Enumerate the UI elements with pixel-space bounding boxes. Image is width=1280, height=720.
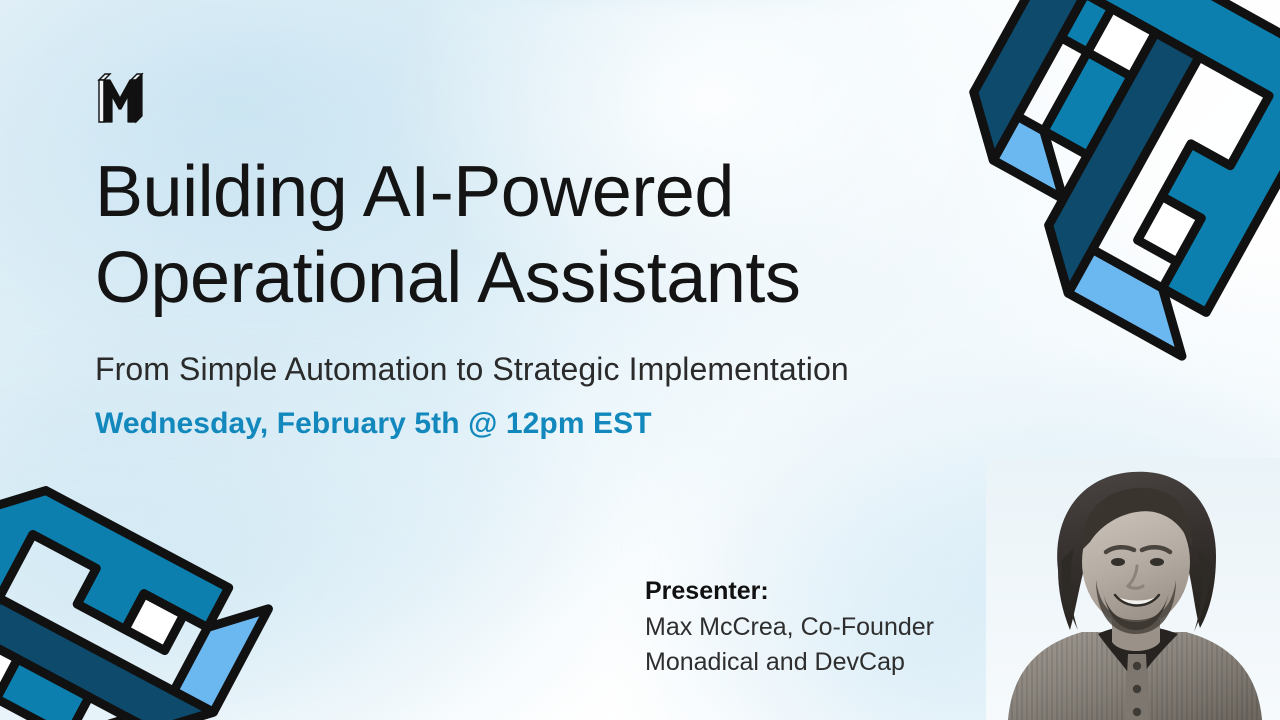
slide-subtitle: From Simple Automation to Strategic Impl… [95, 351, 995, 388]
presenter-headshot-photo [986, 458, 1280, 720]
presenter-label: Presenter: [645, 574, 1005, 610]
page-title: Building AI-Powered Operational Assistan… [95, 150, 995, 321]
presenter-company: Monadical and DevCap [645, 645, 1005, 680]
monadical-m-logo-icon [93, 68, 155, 130]
presenter-block: Presenter: Max McCrea, Co-Founder Monadi… [645, 574, 1005, 680]
presenter-name-role: Max McCrea, Co-Founder [645, 610, 1005, 645]
slide-content: Building AI-Powered Operational Assistan… [95, 150, 995, 441]
webinar-title-slide: Building AI-Powered Operational Assistan… [0, 0, 1280, 720]
event-datetime: Wednesday, February 5th @ 12pm EST [95, 407, 995, 441]
